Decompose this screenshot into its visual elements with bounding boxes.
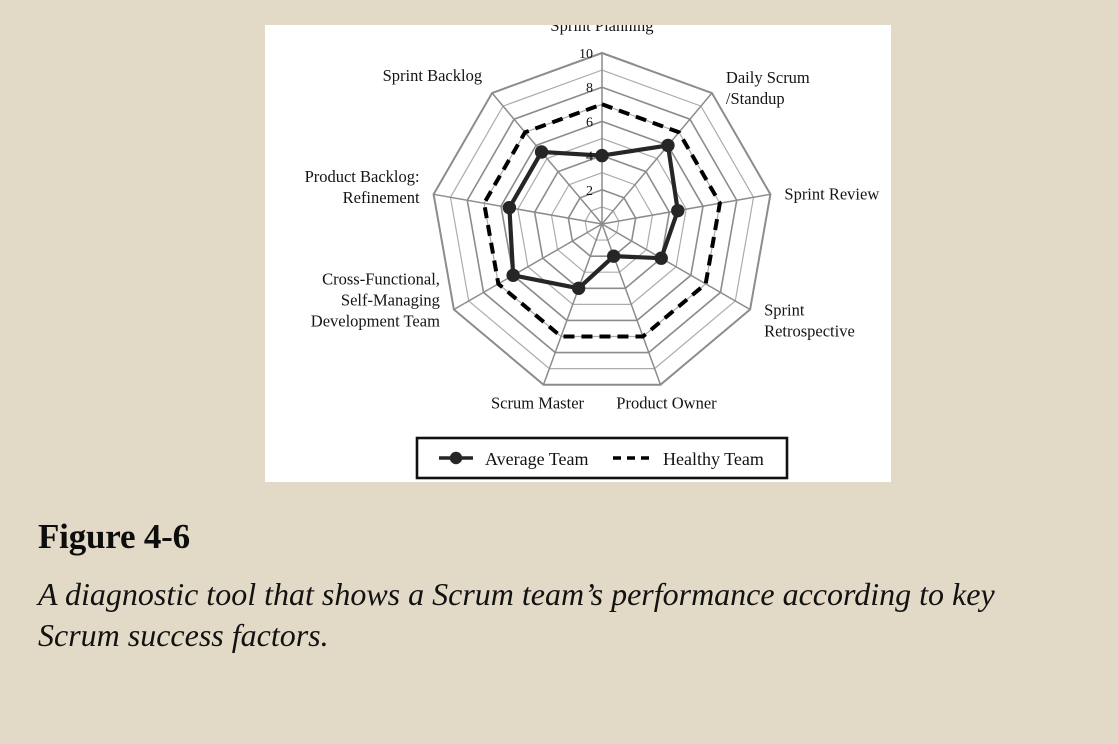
series-data-point	[535, 146, 547, 158]
legend-marker-dot-icon	[450, 452, 462, 464]
axis-category-label: Cross-Functional,Self-ManagingDevelopmen…	[311, 270, 440, 331]
grid-spoke	[434, 194, 602, 224]
series-data-point	[608, 250, 620, 262]
series-data-point	[596, 149, 608, 161]
series-data-point	[655, 252, 667, 264]
series-data-point	[672, 204, 684, 216]
series-data-point	[662, 139, 674, 151]
axis-category-label: Sprint Planning	[550, 25, 653, 35]
radial-tick-label: 4	[586, 150, 593, 165]
axis-category-label: Sprint Backlog	[383, 66, 482, 85]
legend-label-average-team: Average Team	[485, 449, 589, 469]
chart-legend: Average TeamHealthy Team	[417, 438, 787, 478]
radial-tick-label: 6	[586, 115, 593, 130]
legend-label-healthy-team: Healthy Team	[663, 449, 764, 469]
grid-spoke	[602, 224, 750, 310]
grid-spoke	[454, 224, 602, 310]
axis-category-label: Daily Scrum/Standup	[726, 68, 810, 108]
figure-caption: A diagnostic tool that shows a Scrum tea…	[38, 574, 1058, 656]
radar-chart: 246810 Sprint PlanningDaily Scrum/Standu…	[265, 25, 891, 482]
radial-tick-label: 10	[579, 47, 593, 62]
series-data-point	[503, 201, 515, 213]
radial-tick-label: 2	[586, 184, 593, 199]
radar-tick-labels: 246810	[579, 47, 593, 199]
radial-tick-label: 8	[586, 81, 593, 96]
figure-number: Figure 4-6	[38, 516, 1088, 558]
chart-panel: 246810 Sprint PlanningDaily Scrum/Standu…	[265, 25, 891, 482]
figure-root: 246810 Sprint PlanningDaily Scrum/Standu…	[0, 0, 1118, 744]
axis-category-label: SprintRetrospective	[764, 301, 855, 341]
axis-category-label: Scrum Master	[491, 394, 585, 413]
series-data-point	[507, 269, 519, 281]
caption-block: Figure 4-6 A diagnostic tool that shows …	[38, 516, 1088, 656]
axis-category-label: Product Backlog:Refinement	[305, 167, 420, 207]
axis-category-label: Sprint Review	[784, 184, 879, 203]
axis-category-label: Product Owner	[616, 394, 717, 413]
series-data-point	[572, 282, 584, 294]
grid-spoke	[602, 194, 770, 224]
